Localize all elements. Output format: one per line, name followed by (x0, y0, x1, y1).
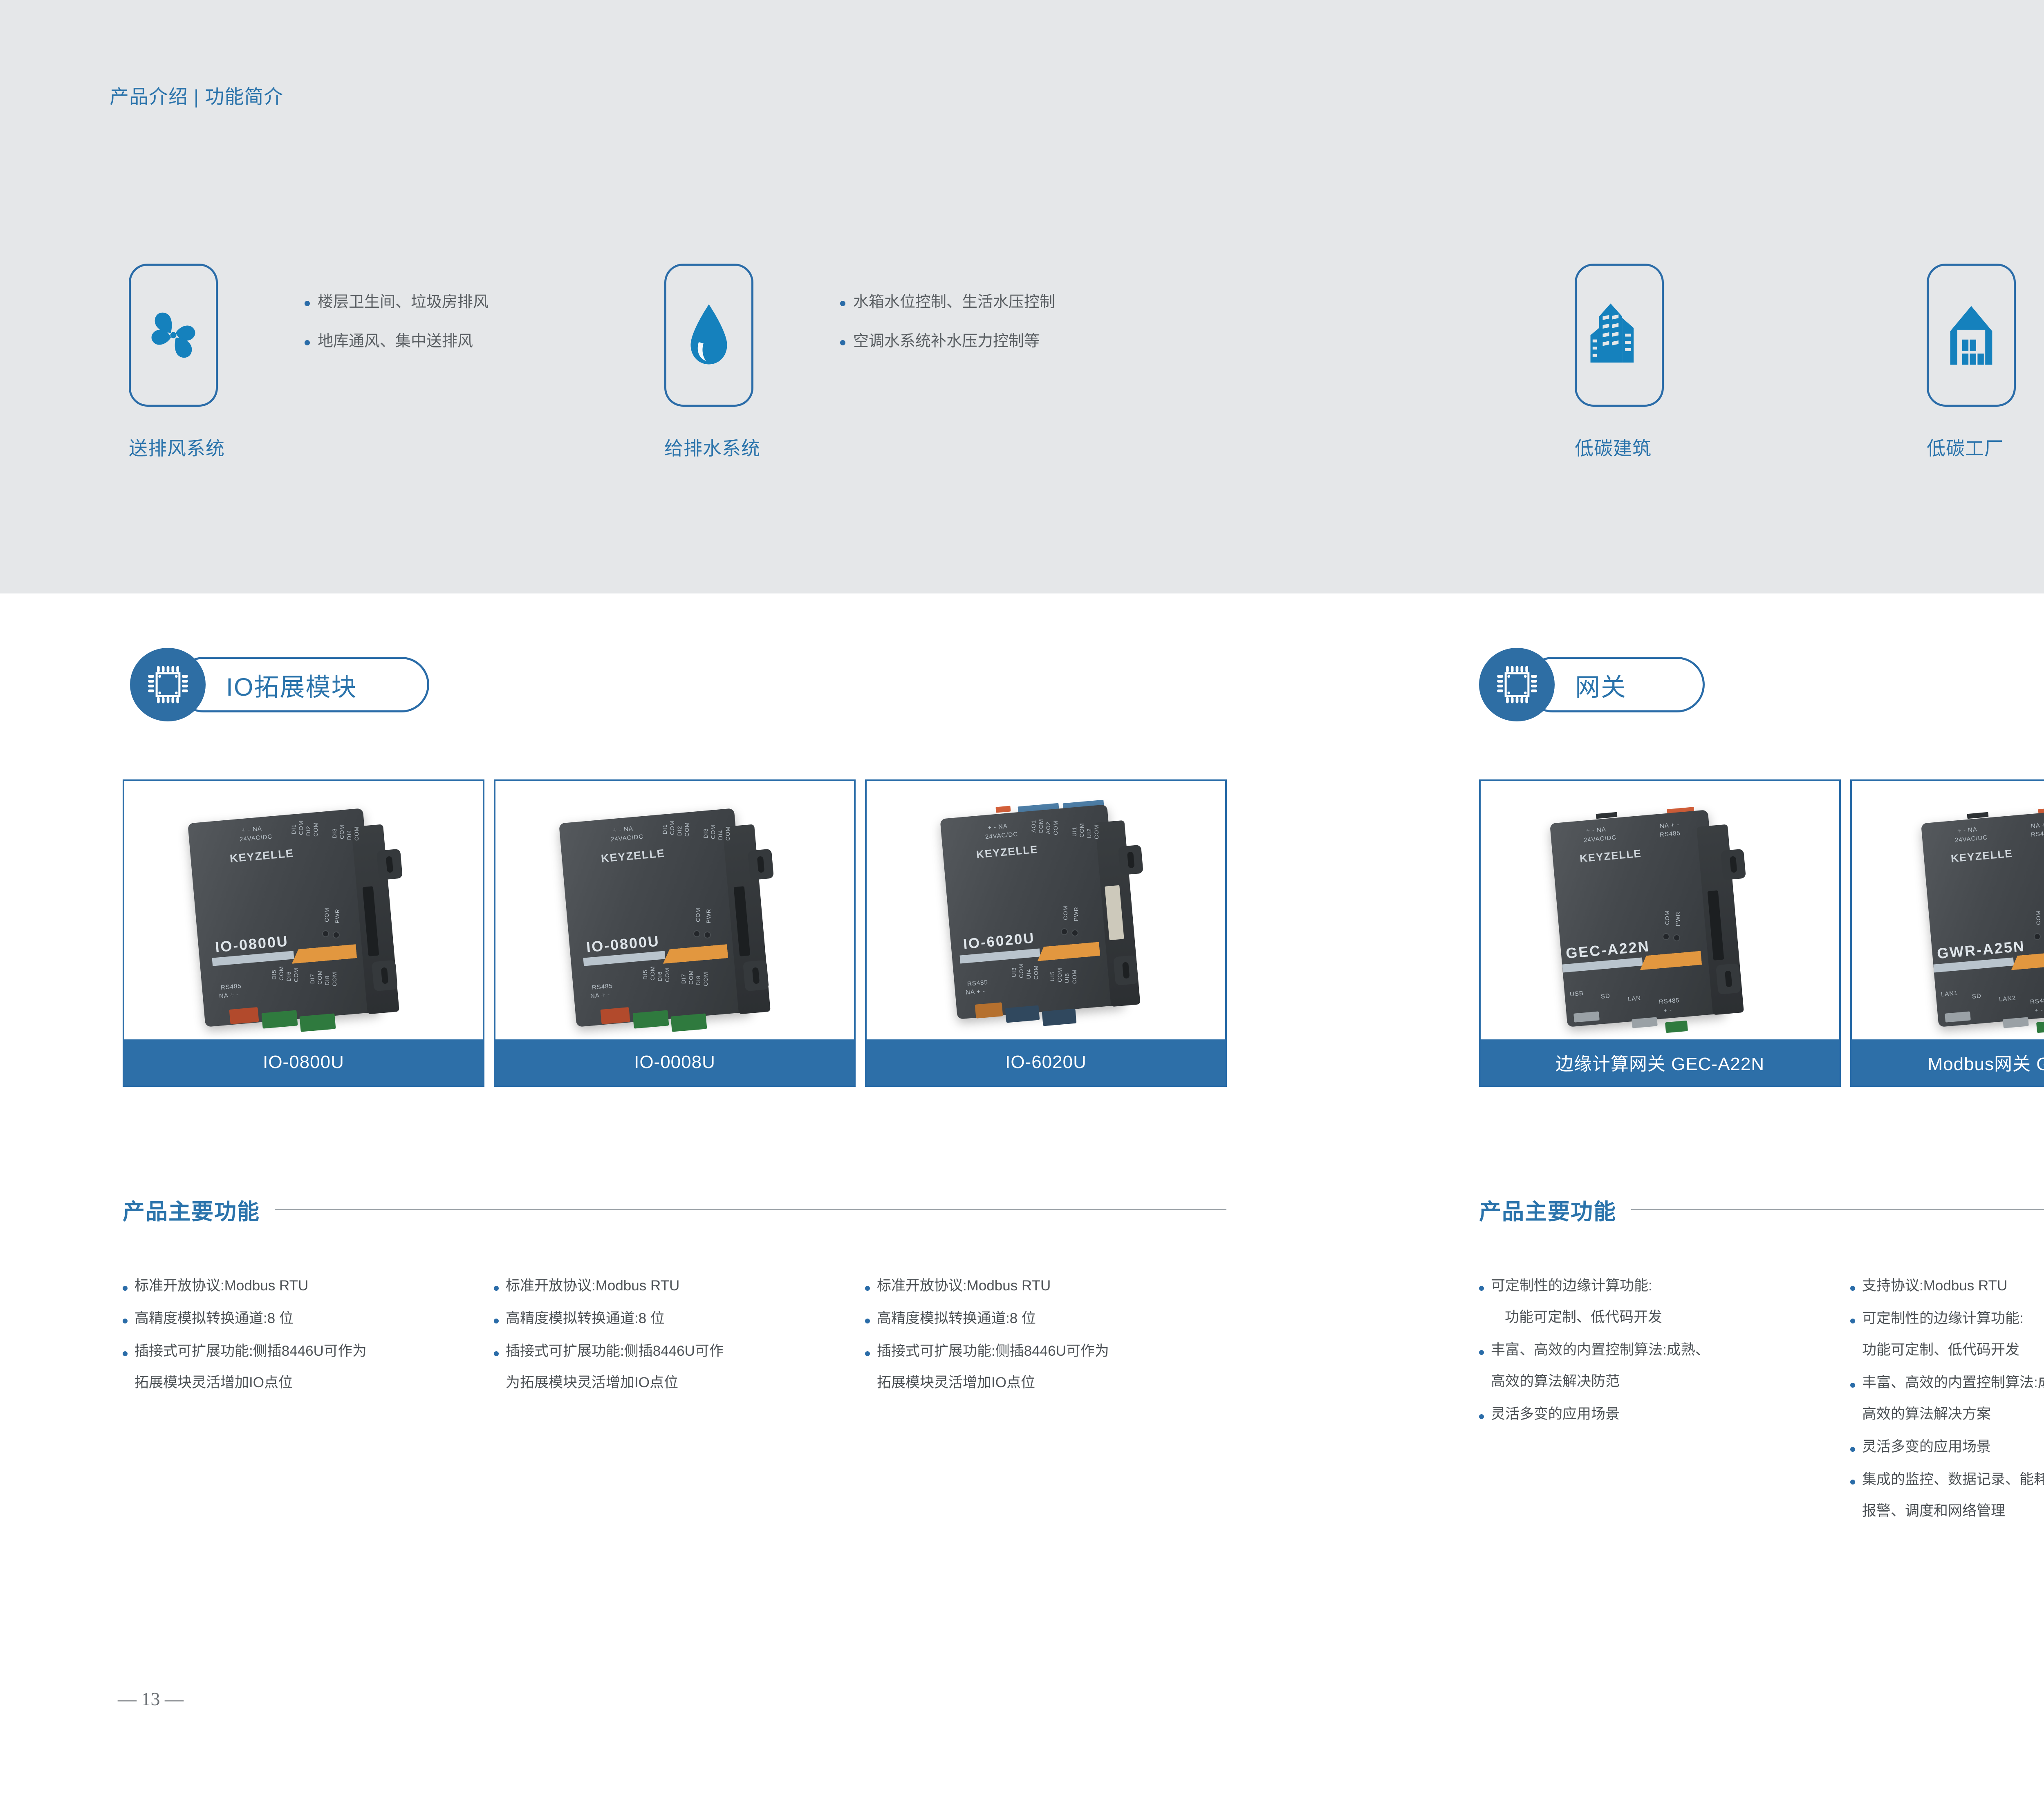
product-card-gec-a22n[interactable]: KEYZELLE + - NA 24VAC/DC NA + - RS485 GE… (1479, 779, 1841, 1087)
device-port-label: USB (1569, 990, 1584, 998)
device-terminal-label: COM (1052, 820, 1059, 835)
device-terminal-label: COM (702, 972, 709, 986)
feature-line: 标准开放协议:Modbus RTU (877, 1279, 1051, 1293)
chip-icon (1495, 663, 1539, 707)
device-terminal-label: AO1 (1030, 820, 1037, 833)
page-number-left: — 13 — (118, 1688, 184, 1710)
feature-heading-gateway: 产品主要功能 (1479, 1193, 2044, 1226)
bullet-dot (494, 1351, 499, 1356)
product-card-io-0008u[interactable]: KEYZELLE + - NA 24VAC/DC DI1 COM DI2 COM… (494, 779, 856, 1087)
bullet-dot (865, 1319, 870, 1323)
feature-line: 报警、调度和网络管理 (1862, 1504, 2044, 1518)
device-terminal-label: COM (1038, 819, 1044, 833)
factory-icon-box (1927, 264, 2016, 407)
device-terminal-label: COM (688, 970, 694, 985)
device-led-label: PWR (1674, 911, 1681, 926)
feature-column-io-1: 标准开放协议:Modbus RTU 高精度模拟转换通道:8 位 插接式可扩展功能… (123, 1279, 482, 1408)
feature-line: 拓展模块灵活增加IO点位 (877, 1375, 1109, 1390)
product-card-io-0800u[interactable]: KEYZELLE + - NA 24VAC/DC DI1 COM DI2 COM… (123, 779, 484, 1087)
device-terminal-label: DI6 (285, 971, 292, 981)
device-led-label: COM (1062, 905, 1069, 920)
device-terminal-label: UI3 (1011, 967, 1017, 977)
feature-line: 插接式可扩展功能:侧插8446U可作为 (134, 1344, 367, 1358)
chip-icon (146, 663, 190, 707)
feature-line: 可定制性的边缘计算功能: (1862, 1311, 2024, 1326)
device-terminal-label: COM (338, 824, 345, 839)
feature-line: 高精度模拟转换通道:8 位 (134, 1311, 294, 1326)
device-port-sublabel: + - (1663, 1006, 1672, 1014)
scenario-label: 低碳工厂 (1927, 434, 2016, 461)
bullet-dot (865, 1351, 870, 1356)
device-terminal-label: COM (664, 967, 670, 982)
product-image-io-0800u: KEYZELLE + - NA 24VAC/DC DI1 COM DI2 COM… (124, 781, 483, 1039)
feature-line: 丰富、高效的内置控制算法:成熟、 (1491, 1343, 1710, 1357)
feature-line: 灵活多变的应用场景 (1862, 1440, 1991, 1454)
device-port-label: RS485 (2030, 997, 2044, 1005)
feature-heading-io: 产品主要功能 (123, 1193, 1226, 1226)
bullet-dot (1479, 1414, 1484, 1419)
device-terminal-label: DI2 (676, 826, 683, 836)
feature-line: 集成的监控、数据记录、能耗计量、 (1862, 1472, 2044, 1487)
feature-heading-rule (1631, 1209, 2044, 1210)
scenario-label: 低碳建筑 (1575, 434, 1664, 461)
application-label: 给排水系统 (664, 434, 760, 461)
device-terminal-label: COM (1071, 969, 1078, 984)
product-card-gwr-a25n[interactable]: KEYZELLE + - NA 24VAC/DC NA + - RS485 GW… (1850, 779, 2044, 1087)
section-badge-label: 网关 (1575, 667, 1627, 703)
fan-icon (143, 305, 204, 366)
device-terminal-label: UI4 (1025, 969, 1032, 979)
bullet-dot (1850, 1286, 1855, 1291)
feature-column-gw-1: 可定制性的边缘计算功能: 功能可定制、低代码开发 丰富、高效的内置控制算法:成熟… (1479, 1279, 1839, 1440)
bullet-dot (1479, 1350, 1484, 1355)
feature-heading-text: 产品主要功能 (1479, 1193, 1616, 1226)
bullet-text: 楼层卫生间、垃圾房排风 (318, 294, 489, 310)
application-label: 送排风系统 (129, 434, 225, 461)
feature-line: 灵活多变的应用场景 (1491, 1407, 1620, 1421)
device-terminal-label: DI7 (309, 974, 316, 984)
device-port-label: LAN2 (1999, 994, 2016, 1003)
device-terminal-label: COM (1018, 963, 1024, 978)
feature-line: 高精度模拟转换通道:8 位 (506, 1311, 665, 1326)
device-terminal-label: DI7 (680, 974, 687, 984)
feature-line: 支持协议:Modbus RTU (1862, 1279, 2007, 1293)
device-terminal-label: COM (710, 824, 716, 839)
product-image-io-0008u: KEYZELLE + - NA 24VAC/DC DI1 COM DI2 COM… (495, 781, 854, 1039)
bullet-text: 水箱水位控制、生活水压控制 (853, 294, 1055, 310)
device-terminal-label: COM (298, 820, 304, 835)
bullet-dot (123, 1319, 128, 1323)
device-terminal-label: UI1 (1071, 826, 1078, 837)
bullet-dot (123, 1351, 128, 1356)
chip-icon-circle (130, 648, 206, 721)
device-terminal-label: COM (331, 972, 338, 986)
chip-icon-circle (1479, 648, 1555, 721)
product-caption: 边缘计算网关 GEC-A22N (1481, 1039, 1839, 1085)
feature-column-gw-2: 支持协议:Modbus RTU 可定制性的边缘计算功能: 功能可定制、低代码开发… (1850, 1279, 2044, 1536)
device-port-label: SD (1972, 992, 1981, 1000)
device-terminal-label: UI2 (1086, 828, 1092, 838)
device-terminal-label: COM (669, 820, 675, 835)
application-water-supply: 给排水系统 (664, 264, 760, 461)
device-terminal-label: DI1 (290, 824, 297, 834)
water-drop-icon (684, 302, 733, 369)
device-port-sublabel: + - (2035, 1006, 2043, 1014)
feature-line: 功能可定制、低代码开发 (1862, 1343, 2024, 1357)
device-terminal-label: UI5 (1049, 971, 1056, 981)
feature-line: 标准开放协议:Modbus RTU (134, 1279, 308, 1293)
product-caption: IO-0800U (124, 1039, 483, 1085)
bullet-dot (494, 1319, 499, 1323)
feature-line: 高精度模拟转换通道:8 位 (877, 1311, 1036, 1326)
device-terminal-label: COM (684, 822, 690, 837)
device-terminal-label: DI1 (661, 824, 668, 834)
feature-line: 为拓展模块灵活增加IO点位 (506, 1375, 724, 1390)
device-port-label: SD (1600, 992, 1610, 1000)
device-terminal-label: DI2 (305, 826, 312, 836)
feature-line: 高效的算法解决防范 (1491, 1374, 1710, 1388)
device-terminal-label: COM (278, 966, 285, 981)
device-rs485-sub-top: RS485 (2031, 830, 2044, 838)
scenario-low-carbon-factory: 低碳工厂 (1927, 264, 2016, 461)
device-terminal-label: DI5 (642, 970, 648, 980)
device-terminal-label: COM (353, 826, 360, 841)
application-ventilation-bullets: 楼层卫生间、垃圾房排风 地库通风、集中送排风 (305, 294, 489, 373)
bullet-dot (305, 301, 310, 306)
feature-line: 拓展模块灵活增加IO点位 (134, 1375, 367, 1390)
device-terminal-label: COM (293, 967, 299, 982)
feature-heading-rule (275, 1209, 1226, 1210)
product-caption: IO-0008U (495, 1039, 854, 1085)
device-terminal-label: COM (1093, 824, 1100, 839)
feature-line: 高效的算法解决方案 (1862, 1407, 2044, 1421)
device-terminal-label: DI6 (657, 971, 663, 981)
device-terminal-label: COM (316, 970, 323, 985)
application-ventilation: 送排风系统 (129, 264, 225, 461)
bullet-dot (123, 1286, 128, 1291)
device-port-label: LAN1 (1941, 990, 1958, 998)
office-building-icon (1589, 298, 1650, 372)
device-terminal-label: DI5 (271, 970, 277, 980)
device-terminal-label: COM (724, 826, 731, 841)
scenario-low-carbon-building: 低碳建筑 (1575, 264, 1664, 461)
device-terminal-label: DI4 (717, 830, 724, 840)
device-terminal-label: COM (649, 966, 656, 981)
device-terminal-label: DI8 (324, 975, 330, 985)
feature-line: 标准开放协议:Modbus RTU (506, 1279, 679, 1293)
product-image-io-6020u: KEYZELLE + - NA 24VAC/DC AO1 COM AO2 COM… (867, 781, 1225, 1039)
device-terminal-label: COM (1078, 823, 1085, 837)
fan-icon-box (129, 264, 218, 407)
bullet-dot (840, 301, 845, 306)
device-terminal-label: AO2 (1045, 822, 1051, 834)
feature-line: 插接式可扩展功能:侧插8446U可作 (506, 1344, 724, 1358)
section-badge-label: IO拓展模块 (226, 667, 357, 703)
device-terminal-label: COM (312, 822, 319, 837)
section-badge-pill: IO拓展模块 (176, 657, 429, 712)
device-rs485-label-top: NA + - (2031, 821, 2044, 830)
feature-column-io-2: 标准开放协议:Modbus RTU 高精度模拟转换通道:8 位 插接式可扩展功能… (494, 1279, 854, 1408)
feature-line: 丰富、高效的内置控制算法:成熟、 (1862, 1375, 2044, 1390)
device-led-label: COM (323, 907, 330, 922)
running-header-left: 产品介绍 | 功能简介 (110, 81, 283, 109)
bullet-dot (865, 1286, 870, 1291)
bullet-dot (1850, 1319, 1855, 1323)
application-water-bullets: 水箱水位控制、生活水压控制 空调水系统补水压力控制等 (840, 294, 1055, 373)
feature-line: 功能可定制、低代码开发 (1491, 1310, 1662, 1324)
device-port-label: LAN (1627, 995, 1641, 1003)
device-terminal-label: DI4 (346, 830, 352, 840)
product-caption: IO-6020U (867, 1039, 1225, 1085)
bullet-dot (305, 340, 310, 345)
feature-column-io-3: 标准开放协议:Modbus RTU 高精度模拟转换通道:8 位 插接式可扩展功能… (865, 1279, 1225, 1408)
section-badge-io: IO拓展模块 (130, 648, 428, 721)
feature-line: 可定制性的边缘计算功能: (1491, 1279, 1662, 1293)
device-terminal-label: COM (1056, 967, 1063, 982)
device-led-label: COM (2035, 910, 2042, 925)
bullet-dot (1850, 1383, 1855, 1388)
device-terminal-label: DI3 (702, 828, 709, 838)
bullet-text: 空调水系统补水压力控制等 (853, 334, 1040, 349)
device-terminal-label: DI3 (331, 828, 338, 838)
device-led-label: PWR (334, 909, 341, 923)
device-terminal-label: COM (1033, 965, 1039, 980)
section-badge-gateway: 网关 (1479, 648, 1708, 721)
water-drop-icon-box (664, 264, 753, 407)
bullet-text: 地库通风、集中送排风 (318, 334, 473, 349)
device-terminal-label: DI8 (695, 975, 702, 985)
product-image-gwr-a25n: KEYZELLE + - NA 24VAC/DC NA + - RS485 GW… (1852, 781, 2044, 1039)
feature-line: 插接式可扩展功能:侧插8446U可作为 (877, 1344, 1109, 1358)
device-terminal-label: UI6 (1064, 973, 1070, 983)
device-led-label: PWR (705, 909, 712, 923)
product-image-gec-a22n: KEYZELLE + - NA 24VAC/DC NA + - RS485 GE… (1481, 781, 1839, 1039)
device-led-label: COM (695, 907, 701, 922)
device-led-label: PWR (1073, 907, 1079, 921)
bullet-dot (840, 340, 845, 345)
bullet-dot (1850, 1447, 1855, 1452)
bullet-dot (1479, 1286, 1484, 1291)
product-card-io-6020u[interactable]: KEYZELLE + - NA 24VAC/DC AO1 COM AO2 COM… (865, 779, 1227, 1087)
device-led-label: COM (1664, 910, 1670, 925)
product-caption: Modbus网关 GWR-A25N (1852, 1039, 2044, 1085)
factory-icon (1945, 300, 1998, 371)
feature-heading-text: 产品主要功能 (123, 1193, 260, 1226)
bullet-dot (494, 1286, 499, 1291)
office-building-icon-box (1575, 264, 1664, 407)
bullet-dot (1850, 1480, 1855, 1485)
